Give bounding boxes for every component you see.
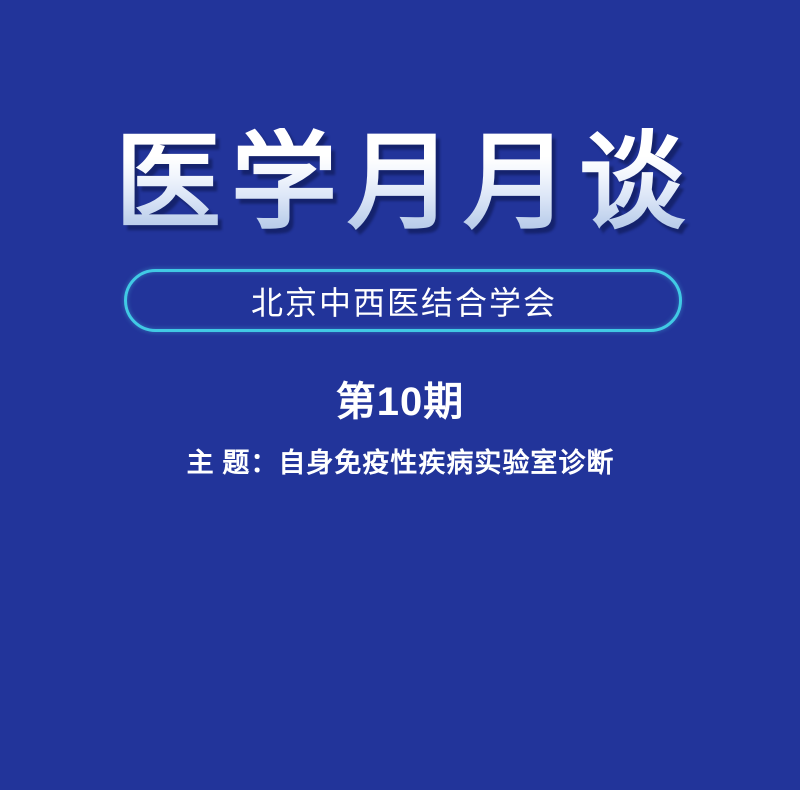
topic-line: 主 题：自身免疫性疾病实验室诊断 [0, 441, 800, 480]
issue-number: 第10期 [0, 369, 800, 427]
poster-title-text: 医学月月谈 [0, 128, 800, 239]
poster-title: 医学月月谈 医学月月谈 [0, 128, 800, 239]
organization-label: 北京中西医结合学会 [249, 278, 557, 324]
organization-pill: 北京中西医结合学会 [124, 269, 682, 332]
poster-canvas: 医学月月谈 医学月月谈 北京中西医结合学会 第10期 主 题：自身免疫性疾病实验… [0, 0, 800, 790]
